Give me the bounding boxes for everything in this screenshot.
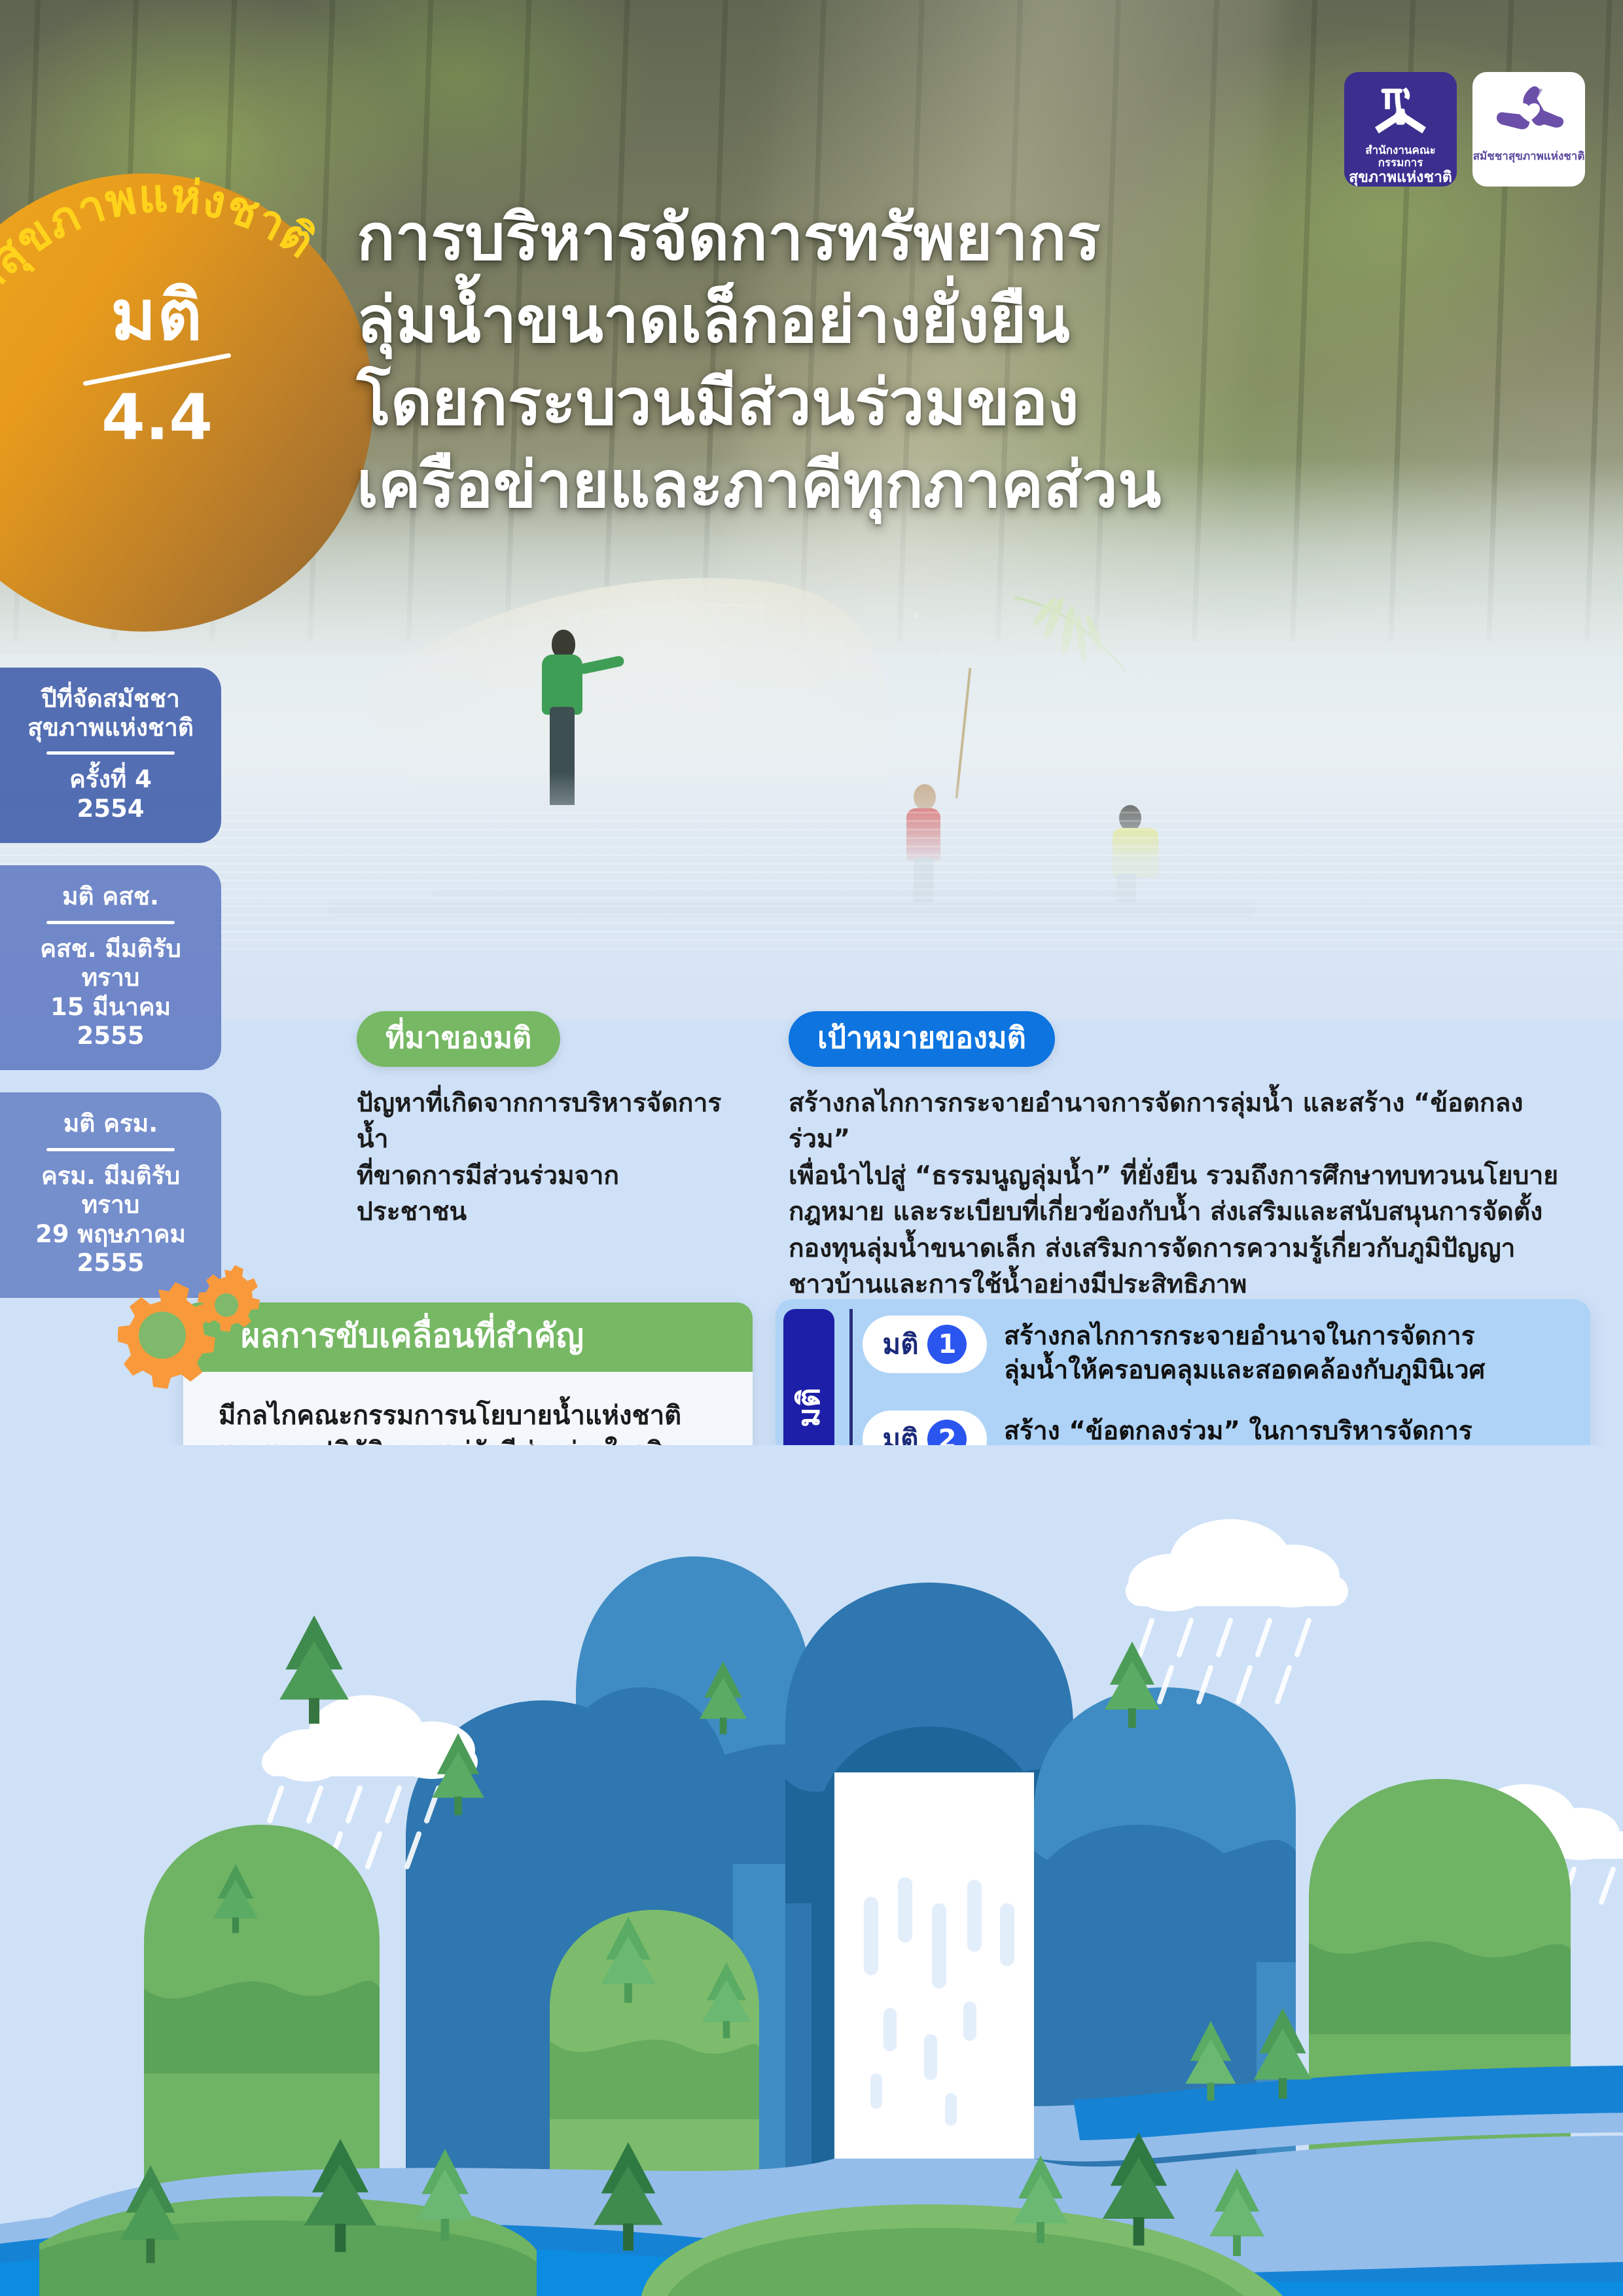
goal-section: เป้าหมายของมติ สร้างกลไกการกระจายอำนาจกา… bbox=[789, 1011, 1567, 1302]
key-results-line1: มีกลไกคณะกรรมการนโยบายน้ำแห่งชาติ bbox=[219, 1401, 681, 1431]
title-line-3: โดยกระบวนมีส่วนร่วมของ bbox=[357, 361, 1286, 444]
title-line-2: ลุ่มน้ำขนาดเล็กอย่างยั่งยืน bbox=[357, 279, 1286, 361]
resolution-text: สร้างกลไกการกระจายอำนาจในการจัดการลุ่มน้… bbox=[1004, 1316, 1485, 1388]
info-card-2-divider bbox=[46, 921, 175, 924]
badge-inner: มติ 4.4 bbox=[39, 281, 275, 497]
info-card-1-body-line1: ครั้งที่ 4 bbox=[69, 765, 152, 793]
resolution-text-line: ลุ่มน้ำให้ครอบคลุมและสอดคล้องกับภูมินิเว… bbox=[1004, 1355, 1485, 1385]
resolution-badge-label: มติ bbox=[883, 1323, 919, 1366]
info-card-2-body-line2: 15 มีนาคม 2555 bbox=[50, 993, 171, 1050]
goal-body-line2: เพื่อนำไปสู่ “ธรรมนูญลุ่มน้ำ” ที่ยั่งยืน… bbox=[789, 1161, 1558, 1191]
info-card-nhc-resolution: มติ คสช. คสช. มีมติรับทราบ 15 มีนาคม 255… bbox=[0, 865, 221, 1070]
nhco-logo-caption: สำนักงานคณะกรรมการ สุขภาพแห่งชาติ bbox=[1344, 145, 1457, 187]
info-card-1-divider bbox=[46, 751, 175, 755]
info-card-3-body: ครม. มีมติรับทราบ 29 พฤษภาคม 2555 bbox=[17, 1162, 204, 1278]
infographic-poster: มติสมัชชาสุขภาพแห่งชาติ มติ 4.4 การบริหา… bbox=[0, 0, 1623, 2296]
goal-heading: เป้าหมายของมติ bbox=[789, 1011, 1055, 1067]
nhco-caption-line2: สุขภาพแห่งชาติ bbox=[1349, 169, 1452, 186]
info-card-3-divider bbox=[46, 1148, 175, 1151]
info-card-3-title: มติ ครม. bbox=[17, 1109, 204, 1138]
origin-section: ที่มาของมติ ปัญหาที่เกิดจากการบริหารจัดก… bbox=[357, 1011, 723, 1230]
resolution-item: มติ1สร้างกลไกการกระจายอำนาจในการจัดการลุ… bbox=[863, 1316, 1576, 1388]
resolution-badge: มติ1 bbox=[863, 1316, 987, 1373]
origin-body: ปัญหาที่เกิดจากการบริหารจัดการน้ำ ที่ขาด… bbox=[357, 1085, 723, 1230]
goal-body-line3: กฎหมาย และระเบียบที่เกี่ยวข้องกับน้ำ ส่ง… bbox=[789, 1197, 1543, 1227]
info-card-3-body-line1: ครม. มีมติรับทราบ bbox=[41, 1162, 180, 1219]
watershed-illustration bbox=[0, 1445, 1623, 2296]
resolution-badge-number: 1 bbox=[927, 1325, 967, 1364]
info-card-1-body: ครั้งที่ 4 2554 bbox=[17, 765, 204, 823]
info-card-1-title: ปีที่จัดสมัชชา สุขภาพแห่งชาติ bbox=[17, 685, 204, 742]
resolutions-tab-label: มติ bbox=[785, 1388, 832, 1427]
origin-body-line1: ปัญหาที่เกิดจากการบริหารจัดการน้ำ bbox=[357, 1088, 721, 1154]
nhco-emblem-icon bbox=[1364, 82, 1436, 142]
assembly-logo: สมัชชาสุขภาพแห่งชาติ bbox=[1472, 72, 1585, 187]
badge-word: มติ bbox=[39, 281, 275, 350]
fisherman-shirt bbox=[542, 655, 582, 715]
logo-group: สำนักงานคณะกรรมการ สุขภาพแห่งชาติ สมัชชา… bbox=[1344, 72, 1585, 187]
gears-icon bbox=[118, 1262, 275, 1399]
info-card-1-title-line2: สุขภาพแห่งชาติ bbox=[27, 713, 194, 742]
goal-body-line4: กองทุนลุ่มน้ำขนาดเล็ก ส่งเสริมการจัดการค… bbox=[789, 1234, 1515, 1263]
info-card-assembly-year: ปีที่จัดสมัชชา สุขภาพแห่งชาติ ครั้งที่ 4… bbox=[0, 668, 221, 843]
info-card-1-title-line1: ปีที่จัดสมัชชา bbox=[41, 685, 180, 713]
river-water bbox=[0, 772, 1623, 1021]
info-card-2-body: คสช. มีมติรับทราบ 15 มีนาคม 2555 bbox=[17, 935, 204, 1051]
goal-body-line1: สร้างกลไกการกระจายอำนาจการจัดการลุ่มน้ำ … bbox=[789, 1088, 1523, 1154]
page-title: การบริหารจัดการทรัพยากร ลุ่มน้ำขนาดเล็กอ… bbox=[357, 196, 1286, 526]
resolution-text-line: สร้าง “ข้อตกลงร่วม” ในการบริหารจัดการ bbox=[1004, 1416, 1472, 1446]
three-hands-heart-icon bbox=[1490, 82, 1567, 148]
assembly-logo-caption: สมัชชาสุขภาพแห่งชาติ bbox=[1473, 151, 1585, 163]
info-card-2-title: มติ คสช. bbox=[17, 882, 204, 911]
key-results-heading: ผลการขับเคลื่อนที่สำคัญ bbox=[241, 1319, 725, 1352]
nhco-caption-line1: สำนักงานคณะกรรมการ bbox=[1365, 144, 1436, 170]
origin-body-line2: ที่ขาดการมีส่วนร่วมจากประชาชน bbox=[357, 1161, 619, 1227]
title-line-4: เครือข่ายและภาคีทุกภาคส่วน bbox=[357, 444, 1286, 526]
resolution-text-line: สร้างกลไกการกระจายอำนาจในการจัดการ bbox=[1004, 1321, 1475, 1351]
info-card-1-body-line2: 2554 bbox=[77, 795, 145, 823]
nhco-logo: สำนักงานคณะกรรมการ สุขภาพแห่งชาติ bbox=[1344, 72, 1457, 187]
title-line-1: การบริหารจัดการทรัพยากร bbox=[357, 196, 1286, 279]
meta-info-cards: ปีที่จัดสมัชชา สุขภาพแห่งชาติ ครั้งที่ 4… bbox=[0, 668, 221, 1320]
goal-body-line5: ชาวบ้านและการใช้น้ำอย่างมีประสิทธิภาพ bbox=[789, 1270, 1247, 1299]
goal-body: สร้างกลไกการกระจายอำนาจการจัดการลุ่มน้ำ … bbox=[789, 1085, 1567, 1302]
badge-number: 4.4 bbox=[39, 386, 275, 449]
info-card-2-body-line1: คสช. มีมติรับทราบ bbox=[40, 935, 181, 992]
origin-heading: ที่มาของมติ bbox=[357, 1011, 560, 1067]
